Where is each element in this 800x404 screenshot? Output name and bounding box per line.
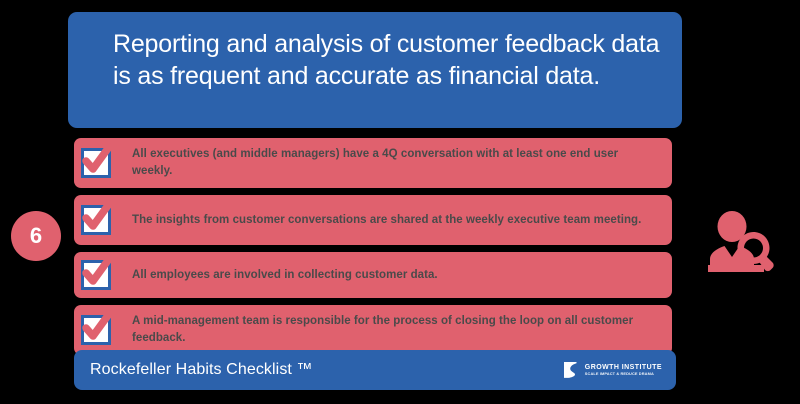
checkbox-checked-icon[interactable] [79, 313, 113, 347]
checkbox-checked-icon[interactable] [79, 258, 113, 292]
checkbox-checked-icon[interactable] [79, 146, 113, 180]
page-title: Reporting and analysis of customer feedb… [113, 28, 660, 92]
logo-text-block: GROWTH INSTITUTE SCALE IMPACT & REDUCE D… [585, 364, 662, 376]
slide-canvas: 6 Reporting and analysis of customer fee… [0, 0, 800, 404]
list-item-label: A mid-management team is responsible for… [132, 313, 658, 346]
list-item[interactable]: The insights from customer conversations… [74, 195, 672, 245]
logo-name: GROWTH INSTITUTE [585, 364, 662, 371]
checkbox-checked-icon[interactable] [79, 203, 113, 237]
list-item[interactable]: All employees are involved in collecting… [74, 252, 672, 298]
list-item[interactable]: All executives (and middle managers) hav… [74, 138, 672, 188]
person-with-magnifier-icon [700, 203, 786, 289]
growth-institute-logo: GROWTH INSTITUTE SCALE IMPACT & REDUCE D… [564, 362, 662, 379]
logo-tagline: SCALE IMPACT & REDUCE DRAMA [585, 372, 662, 376]
footer-bar: Rockefeller Habits Checklist ™ GROWTH IN… [74, 350, 676, 390]
footer-title: Rockefeller Habits Checklist ™ [90, 361, 313, 379]
logo-mark-icon [564, 362, 581, 379]
list-item-label: All executives (and middle managers) hav… [132, 146, 658, 179]
header-banner: Reporting and analysis of customer feedb… [68, 12, 682, 128]
list-item-label: The insights from customer conversations… [132, 212, 641, 229]
list-item-label: All employees are involved in collecting… [132, 267, 438, 284]
list-item[interactable]: A mid-management team is responsible for… [74, 305, 672, 355]
checklist: All executives (and middle managers) hav… [74, 138, 672, 362]
step-number-label: 6 [30, 225, 42, 247]
step-number-badge: 6 [11, 211, 61, 261]
